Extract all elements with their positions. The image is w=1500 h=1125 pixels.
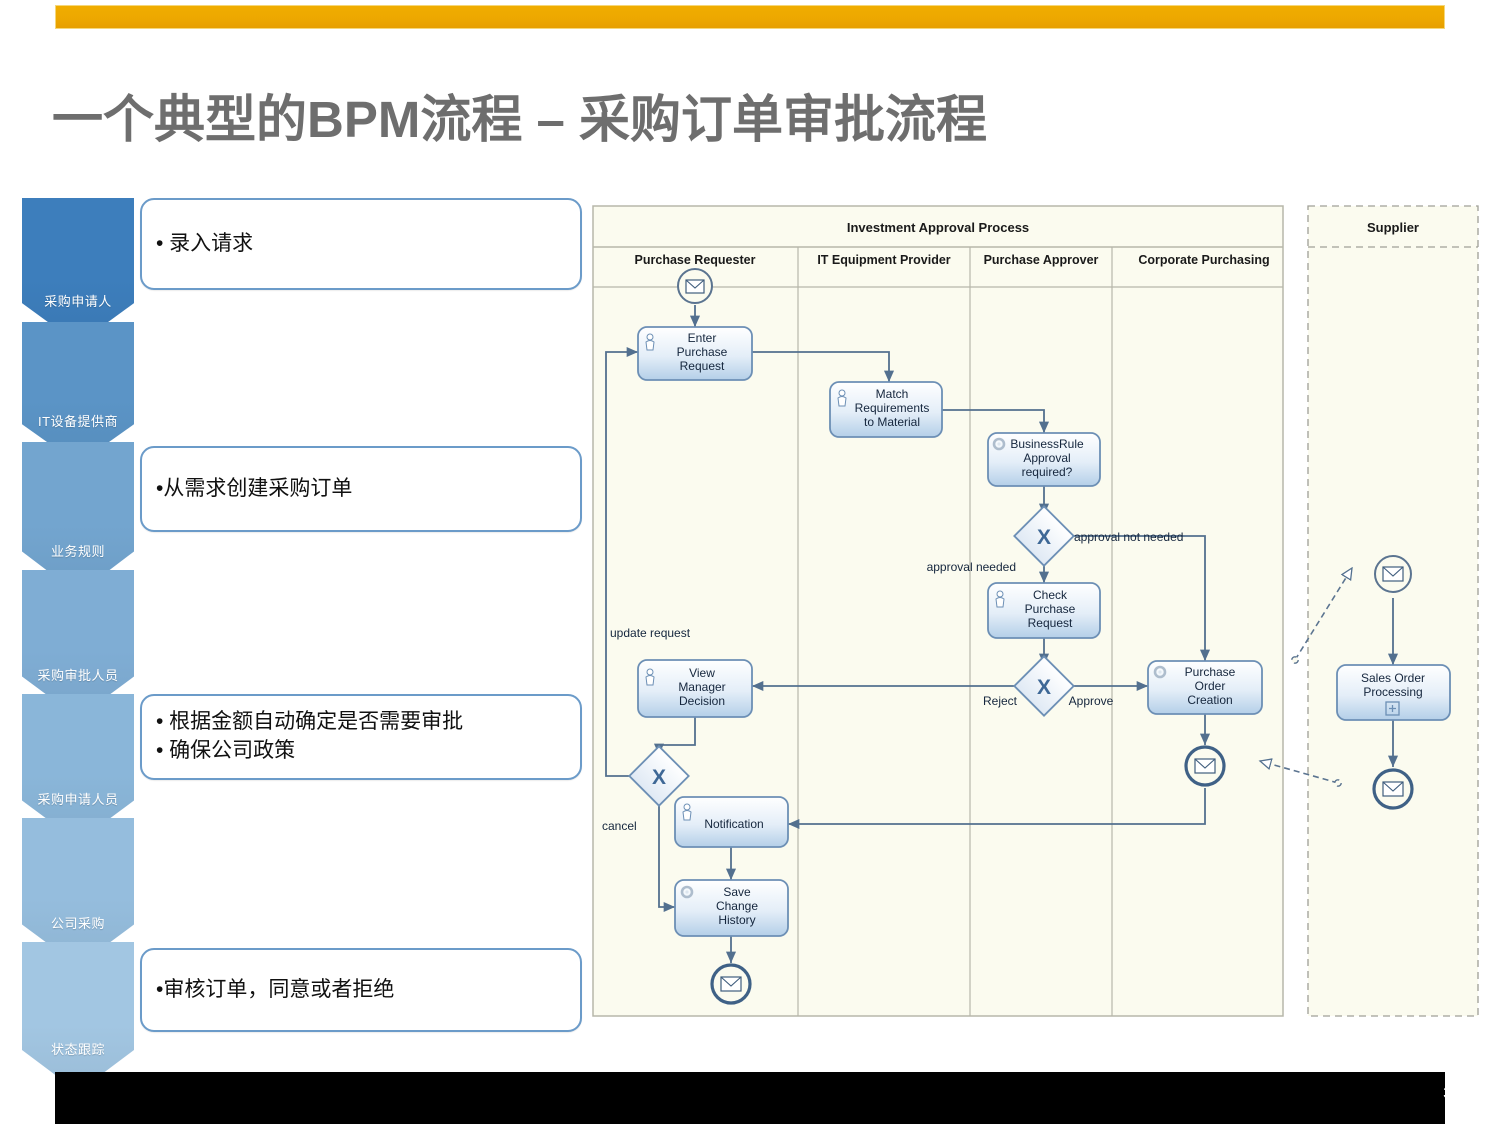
task-line: View: [689, 666, 715, 680]
task-line: Sales Order: [1361, 671, 1425, 685]
pool-title-supplier: Supplier: [1367, 220, 1419, 235]
user-task-icon: [996, 591, 1004, 607]
lane-title-purchase-approver: Purchase Approver: [984, 253, 1099, 267]
role-callout-text: • 根据金额自动确定是否需要审批• 确保公司政策: [156, 708, 463, 766]
role-chevron-label: 采购审批人员: [37, 665, 118, 684]
history-message-end-event: [712, 965, 750, 1003]
task-line: BusinessRule: [1010, 437, 1084, 451]
task-line: to Material: [864, 415, 920, 429]
task-line: Creation: [1187, 693, 1232, 707]
role-chevron-label: 业务规则: [51, 541, 105, 560]
task-line: Decision: [679, 694, 725, 708]
page-title: 一个典型的BPM流程 – 采购订单审批流程: [52, 78, 987, 152]
task-match-requirements[interactable]: Match Requirements to Material: [830, 382, 942, 437]
task-line: Match: [876, 387, 909, 401]
task-line: Change: [716, 899, 758, 913]
flow-label-update-request: update request: [610, 626, 691, 640]
role-chevron-label: 采购申请人: [44, 291, 112, 310]
task-line: Notification: [704, 817, 763, 831]
bpmn-diagram: Investment Approval Process Purchase Req…: [592, 205, 1480, 1017]
task-purchase-order-creation[interactable]: Purchase Order Creation: [1148, 661, 1262, 714]
lane-title-it-equipment-provider: IT Equipment Provider: [817, 253, 950, 267]
role-callout-text: • 录入请求: [156, 230, 253, 259]
user-task-icon: [838, 390, 846, 406]
role-callout-2[interactable]: •从需求创建采购订单: [140, 446, 582, 532]
task-line: Purchase: [677, 345, 728, 359]
bullet-line: •从需求创建采购订单: [156, 475, 352, 504]
task-check-purchase-request[interactable]: Check Purchase Request: [988, 583, 1100, 638]
task-line: Request: [1028, 616, 1073, 630]
task-line: Request: [680, 359, 725, 373]
role-chevron-label: 状态跟踪: [51, 1039, 105, 1058]
flow-label-cancel: cancel: [602, 819, 637, 833]
flow-label-reject: Reject: [983, 694, 1018, 708]
role-chevron-label: 公司采购: [51, 913, 105, 932]
task-save-change-history[interactable]: Save Change History: [675, 880, 788, 936]
task-line: Approval: [1023, 451, 1070, 465]
page-number: 3: [1443, 1085, 1452, 1103]
lane-title-corporate-purchasing: Corporate Purchasing: [1138, 253, 1269, 267]
role-callout-text: •审核订单，同意或者拒绝: [156, 976, 394, 1005]
task-line: Order: [1195, 679, 1226, 693]
task-line: Processing: [1363, 685, 1422, 699]
bullet-line: • 确保公司政策: [156, 737, 463, 766]
task-line: History: [718, 913, 755, 927]
bullet-line: •审核订单，同意或者拒绝: [156, 976, 394, 1005]
exclusive-gateway-icon: X: [1037, 526, 1051, 549]
bullet-line: • 根据金额自动确定是否需要审批: [156, 708, 463, 737]
role-callout-3[interactable]: • 根据金额自动确定是否需要审批• 确保公司政策: [140, 694, 582, 780]
flow-label-approval-not-needed: approval not needed: [1074, 530, 1183, 544]
task-enter-purchase-request[interactable]: Enter Purchase Request: [638, 327, 752, 380]
top-accent-bar: [55, 5, 1445, 29]
po-message-end-event: [1186, 747, 1224, 785]
role-callout-4[interactable]: •审核订单，同意或者拒绝: [140, 948, 582, 1032]
user-task-icon: [646, 334, 654, 350]
start-message-event: [678, 269, 712, 303]
flow-label-approve: Approve: [1069, 694, 1114, 708]
role-chevron-label: IT设备提供商: [38, 411, 118, 430]
task-line: Save: [723, 885, 751, 899]
role-chevron-label: 采购申请人员: [37, 789, 118, 808]
role-callout-1[interactable]: • 录入请求: [140, 198, 582, 290]
supplier-message-end-event: [1374, 770, 1412, 808]
pool-title-investment: Investment Approval Process: [847, 220, 1029, 235]
task-line: Enter: [688, 331, 717, 345]
task-businessrule-approval[interactable]: BusinessRule Approval required?: [988, 433, 1100, 486]
task-line: Requirements: [855, 401, 930, 415]
task-notification[interactable]: Notification: [675, 797, 788, 847]
task-line: Purchase: [1185, 665, 1236, 679]
task-line: required?: [1022, 465, 1073, 479]
task-line: Purchase: [1025, 602, 1076, 616]
user-task-icon: [683, 804, 691, 820]
lane-title-purchase-requester: Purchase Requester: [635, 253, 756, 267]
bullet-line: • 录入请求: [156, 230, 253, 259]
flow-label-approval-needed: approval needed: [927, 560, 1016, 574]
task-sales-order-processing[interactable]: Sales Order Processing: [1337, 665, 1450, 720]
slide-root: 一个典型的BPM流程 – 采购订单审批流程 采购申请人• 录入请求IT设备提供商…: [0, 0, 1500, 1125]
role-callout-text: •从需求创建采购订单: [156, 475, 352, 504]
user-task-icon: [646, 669, 654, 685]
task-line: Manager: [678, 680, 725, 694]
footer-bar: [55, 1072, 1445, 1124]
role-chevron-7[interactable]: 状态跟踪: [22, 942, 134, 1092]
exclusive-gateway-icon: X: [652, 766, 666, 789]
task-line: Check: [1033, 588, 1068, 602]
task-view-manager-decision[interactable]: View Manager Decision: [638, 660, 752, 717]
role-callout-column: 采购申请人• 录入请求IT设备提供商•从需求创建采购订单业务规则• 根据金额自动…: [22, 198, 582, 1068]
exclusive-gateway-icon: X: [1037, 676, 1051, 699]
supplier-start-message-event: [1375, 556, 1411, 592]
